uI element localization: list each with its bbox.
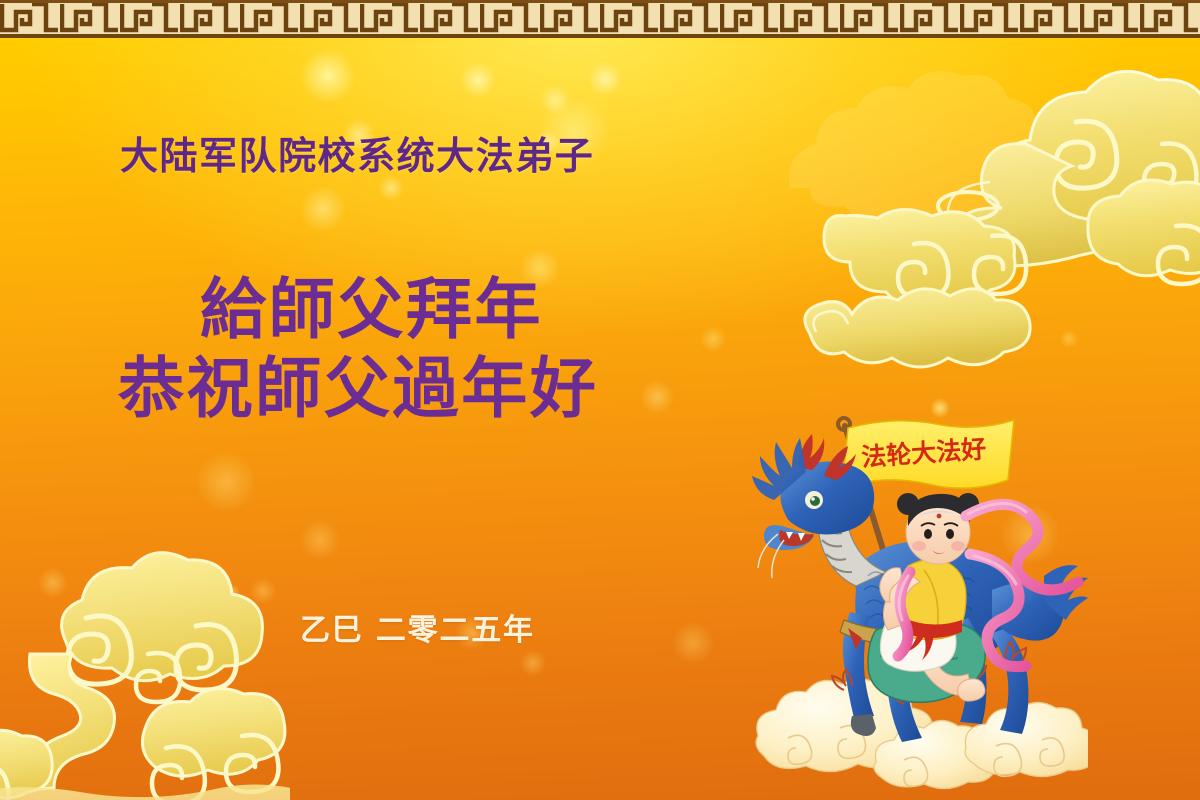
- greeting-card: 法轮大法好: [0, 0, 1200, 800]
- greek-key-meander-border: [0, 0, 1200, 38]
- date-line: 乙巳 二零二五年: [300, 612, 535, 650]
- greeting-line-1: 給師父拜年: [200, 271, 543, 349]
- greeting-line-2: 恭祝師父過年好: [118, 350, 598, 428]
- meander-pattern: [0, 0, 1200, 34]
- text-layer: 大陆军队院校系统大法弟子 給師父拜年 恭祝師父過年好 乙巳 二零二五年: [0, 0, 1200, 800]
- organization-line: 大陆军队院校系统大法弟子: [120, 133, 594, 179]
